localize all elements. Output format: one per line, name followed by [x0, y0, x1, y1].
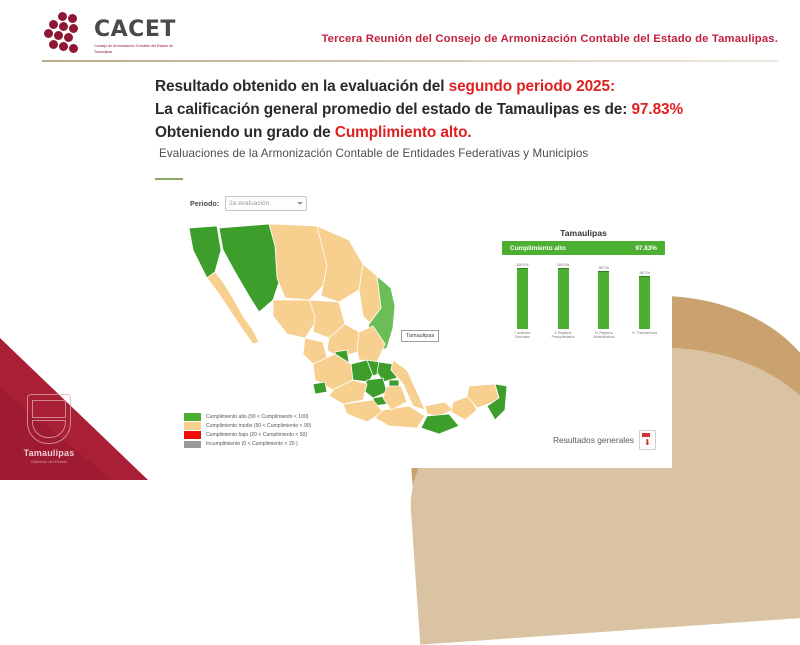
- tamaulipas-chart-card: Tamaulipas Cumplimiento alto 97.83% 100.…: [502, 228, 665, 341]
- coat-of-arms-icon: [27, 394, 71, 444]
- compliance-banner: Cumplimiento alto 97.83%: [502, 241, 665, 255]
- chart-bar[interactable]: [517, 268, 528, 329]
- chart-bar-label: III. Registros Administrativos: [591, 331, 617, 341]
- legend-label-medio: Cumplimiento medio (50 < Cumplimiento < …: [206, 423, 311, 429]
- chart-bar-group[interactable]: 95.7% III. Registros Administrativos: [591, 263, 617, 341]
- compliance-banner-label: Cumplimiento alto: [510, 245, 566, 252]
- headline-block: Resultado obtenido en la evaluación del …: [155, 76, 683, 144]
- chevron-down-icon: [297, 202, 303, 205]
- chart-bar-value: 100.0%: [516, 263, 528, 267]
- headline-line-3: Obteniendo un grado de Cumplimiento alto…: [155, 122, 683, 145]
- app-subtitle: Evaluaciones de la Armonización Contable…: [159, 147, 588, 160]
- logo-dots-icon: [44, 12, 88, 56]
- period-selector-row: Periodo: 2a evaluación: [190, 196, 307, 211]
- legend-item: Cumplimiento medio (50 < Cumplimiento < …: [184, 422, 311, 430]
- legend-swatch-alto: [184, 413, 201, 421]
- download-arrow-icon: ⬇: [644, 439, 650, 446]
- chart-bar[interactable]: [639, 276, 650, 329]
- chart-bar-group[interactable]: 100.0% II. Registros Presupuestarios: [550, 263, 576, 341]
- legend-item: Cumplimiento bajo (20 < Cumplimiento < 5…: [184, 431, 311, 439]
- header-title: Tercera Reunión del Consejo de Armonizac…: [321, 33, 778, 45]
- chart-bar[interactable]: [558, 268, 569, 329]
- logo-subtitle: Consejo de Armonización Contable del Est…: [94, 44, 174, 55]
- compliance-banner-value: 97.83%: [635, 245, 657, 252]
- legend-swatch-bajo: [184, 431, 201, 439]
- pdf-download-icon[interactable]: ⬇: [639, 430, 656, 450]
- legend-label-alto: Cumplimiento alto (90 < Cumplimiento < 1…: [206, 414, 309, 420]
- chart-plot-area: 100.0% I. Aspectos Generales 100.0% II. …: [502, 263, 665, 341]
- legend-swatch-incumplimiento: [184, 441, 201, 449]
- chart-bar-label: II. Registros Presupuestarios: [550, 331, 576, 341]
- app-accent-rule: [155, 178, 183, 180]
- chart-bar-value: 100.0%: [557, 263, 569, 267]
- state-sinaloa[interactable]: [273, 300, 317, 338]
- period-select[interactable]: 2a evaluación: [225, 196, 307, 211]
- resultados-generales-link[interactable]: Resultados generales ⬇: [553, 430, 656, 450]
- headline-line-1-text: Resultado obtenido en la evaluación del: [155, 78, 449, 95]
- state-baja-california[interactable]: [189, 226, 221, 278]
- chart-bar-group[interactable]: 100.0% I. Aspectos Generales: [509, 263, 535, 341]
- state-oaxaca[interactable]: [375, 406, 425, 428]
- sevac-web-app: Periodo: 2a evaluación: [152, 168, 672, 468]
- headline-line-3-text: Obteniendo un grado de: [155, 124, 335, 141]
- headline-grade-highlight: Cumplimiento alto.: [335, 124, 472, 141]
- state-puebla[interactable]: [383, 386, 407, 410]
- chart-bar-label: IV. Transparencia: [632, 331, 657, 341]
- legend-swatch-medio: [184, 422, 201, 430]
- chart-title: Tamaulipas: [502, 228, 665, 238]
- cacet-logo: CACET Consejo de Armonización Contable d…: [44, 12, 176, 56]
- state-estado-de-mexico[interactable]: [363, 378, 387, 398]
- headline-line-1: Resultado obtenido en la evaluación del …: [155, 76, 683, 99]
- period-selected-value: 2a evaluación: [229, 200, 269, 207]
- chart-bar[interactable]: [598, 271, 609, 329]
- logo-text-block: CACET Consejo de Armonización Contable d…: [94, 12, 176, 55]
- headline-score-highlight: 97.83%: [631, 101, 683, 118]
- header-divider: [42, 60, 778, 62]
- chart-bar-label: I. Aspectos Generales: [509, 331, 535, 341]
- chart-bar-value: 95.7%: [599, 266, 609, 270]
- map-svg: [177, 220, 517, 435]
- headline-line-2: La calificación general promedio del est…: [155, 99, 683, 122]
- tamaulipas-emblem: Tamaulipas Gobierno del Estado: [14, 394, 84, 464]
- slide-header: CACET Consejo de Armonización Contable d…: [0, 0, 800, 62]
- map-legend: Cumplimiento alto (90 < Cumplimiento < 1…: [184, 413, 311, 448]
- emblem-state-name: Tamaulipas: [14, 448, 84, 458]
- legend-item: Incumplimiento (0 < Cumplimiento < 20 ): [184, 441, 311, 449]
- period-label: Periodo:: [190, 199, 219, 208]
- logo-title: CACET: [94, 19, 176, 41]
- legend-label-bajo: Cumplimiento bajo (20 < Cumplimiento < 5…: [206, 432, 307, 438]
- headline-line-2-text: La calificación general promedio del est…: [155, 101, 631, 118]
- map-tooltip-tamaulipas: Tamaulipas: [401, 330, 439, 342]
- pdf-tag: [642, 433, 650, 437]
- chart-bar-group[interactable]: 96.7% IV. Transparencia: [632, 263, 658, 341]
- mexico-choropleth-map[interactable]: Tamaulipas: [177, 220, 517, 435]
- emblem-subtitle: Gobierno del Estado: [14, 459, 84, 464]
- presentation-slide: CACET Consejo de Armonización Contable d…: [0, 0, 800, 480]
- headline-period-highlight: segundo periodo 2025:: [449, 78, 615, 95]
- legend-item: Cumplimiento alto (90 < Cumplimiento < 1…: [184, 413, 311, 421]
- state-chiapas[interactable]: [421, 414, 459, 434]
- chart-bar-value: 96.7%: [640, 271, 650, 275]
- legend-label-incumplimiento: Incumplimiento (0 < Cumplimiento < 20 ): [206, 441, 298, 447]
- resultados-generales-label: Resultados generales: [553, 435, 634, 445]
- state-colima[interactable]: [313, 382, 327, 394]
